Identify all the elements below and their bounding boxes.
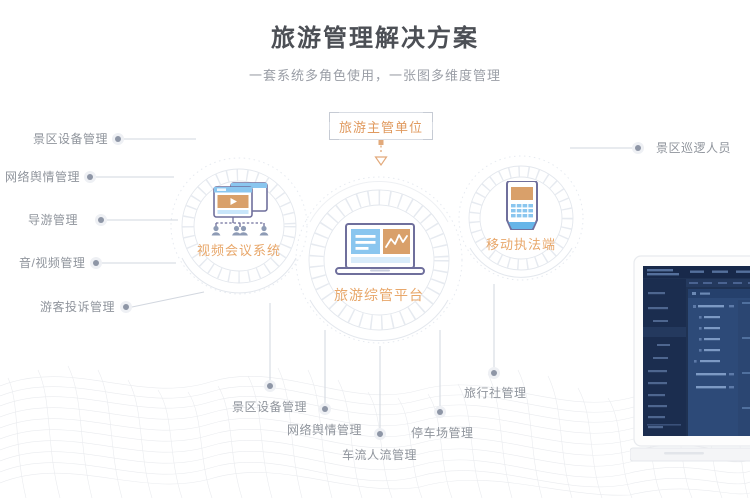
node-label-left-3[interactable]: 音/视频管理 bbox=[19, 255, 85, 271]
video-conference-icon[interactable] bbox=[205, 178, 275, 241]
node-label-bottom-4[interactable]: 旅行社管理 bbox=[464, 385, 527, 401]
authority-box[interactable]: 旅游主管单位 bbox=[330, 113, 432, 139]
node-label-bottom-1[interactable]: 网络舆情管理 bbox=[287, 422, 362, 438]
hub-caption-video-conference: 视频会议系统 bbox=[176, 240, 302, 259]
laptop-dashboard-mockup bbox=[630, 252, 750, 487]
mobile-device-icon[interactable] bbox=[500, 181, 544, 242]
node-label-bottom-0[interactable]: 景区设备管理 bbox=[232, 399, 307, 415]
bracket-bottom-right bbox=[423, 130, 433, 140]
infographic-canvas: 旅游管理解决方案 一套系统多角色使用，一张图多维度管理 bbox=[0, 0, 750, 498]
box-edge-left bbox=[329, 122, 330, 130]
hub-caption-mobile-enforcement: 移动执法端 bbox=[466, 234, 576, 253]
box-edge-bottom bbox=[339, 139, 423, 140]
box-edge-right bbox=[432, 122, 433, 130]
bracket-top-right bbox=[423, 112, 433, 122]
left-connectors bbox=[96, 139, 204, 307]
node-label-left-2[interactable]: 导游管理 bbox=[28, 212, 78, 228]
bracket-top-left bbox=[329, 112, 339, 122]
node-label-bottom-2[interactable]: 车流人流管理 bbox=[342, 447, 417, 463]
node-label-left-0[interactable]: 景区设备管理 bbox=[33, 131, 108, 147]
hub-caption-tourism-platform: 旅游综管平台 bbox=[316, 285, 442, 305]
authority-label: 旅游主管单位 bbox=[339, 117, 423, 136]
authority-connector bbox=[376, 140, 387, 165]
node-label-right-0[interactable]: 景区巡逻人员 bbox=[656, 140, 731, 156]
node-label-left-4[interactable]: 游客投诉管理 bbox=[40, 299, 115, 315]
bracket-bottom-left bbox=[329, 130, 339, 140]
node-label-left-1[interactable]: 网络舆情管理 bbox=[5, 169, 80, 185]
node-label-bottom-3[interactable]: 停车场管理 bbox=[411, 425, 474, 441]
laptop-platform-icon[interactable] bbox=[332, 222, 428, 287]
box-edge-top bbox=[339, 112, 423, 113]
